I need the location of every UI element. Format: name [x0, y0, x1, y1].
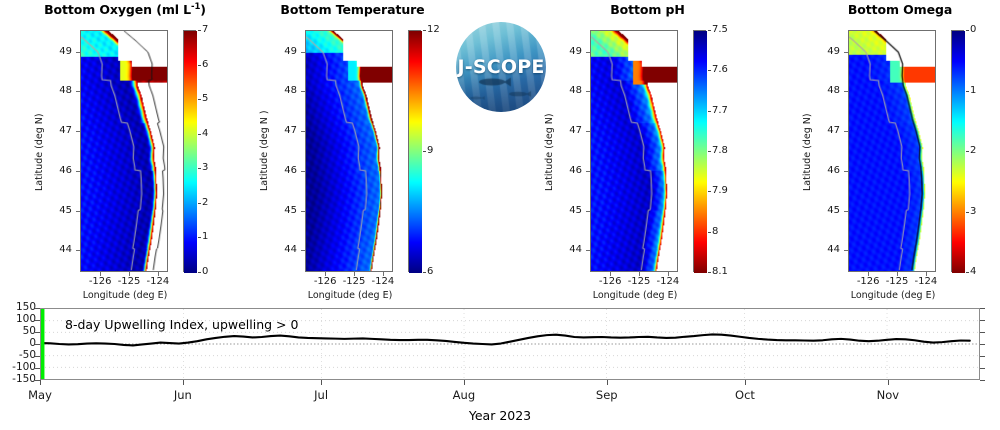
colorbar-tickmark-oxygen-4: [198, 168, 201, 169]
upwelling-xtick-4: Sep: [596, 388, 618, 402]
colorbar-tickmark-oxygen-1: [198, 65, 201, 66]
colorbar-tick-ph-0: 8.1: [712, 266, 728, 277]
map-ytick-ph-4: 45: [560, 205, 582, 216]
map-ytickmark-oxygen-4: [76, 211, 80, 212]
colorbar-tick-ph-2: 7.9: [712, 185, 728, 196]
map-image-temperature: [306, 31, 392, 271]
map-xtick-ph-2: -124: [650, 276, 686, 287]
map-xtickmark-omega-0: [868, 272, 869, 276]
colorbar-tickmark-oxygen-2: [198, 99, 201, 100]
colorbar-tickmark-omega-0: [966, 272, 969, 273]
map-xtickmark-temperature-1: [354, 272, 355, 276]
j-scope-logo-label: J-SCOPE: [456, 56, 546, 78]
colorbar-tickmark-temperature-0: [423, 30, 426, 31]
map-ytickmark-omega-1: [844, 91, 848, 92]
colorbar-tickmark-oxygen-5: [198, 203, 201, 204]
colorbar-tick-temperature-2: 6: [427, 266, 433, 277]
upwelling-xtickmark-4: [607, 380, 608, 385]
upwelling-ytickmark-5: [35, 368, 40, 369]
upwelling-ytickmark-right-3: [980, 344, 985, 345]
map-ytick-ph-2: 47: [560, 125, 582, 136]
map-ytickmark-oxygen-2: [76, 131, 80, 132]
map-xtickmark-ph-1: [639, 272, 640, 276]
colorbar-tickmark-temperature-1: [423, 151, 426, 152]
colorbar-tick-oxygen-1: 6: [202, 59, 208, 70]
map-xtick-omega-2: -124: [908, 276, 944, 287]
map-ytick-oxygen-5: 44: [50, 244, 72, 255]
map-ytickmark-ph-3: [586, 171, 590, 172]
colorbar-temperature: [408, 30, 421, 272]
colorbar-tick-temperature-1: 9: [427, 145, 433, 156]
colorbar-tick-oxygen-2: 5: [202, 93, 208, 104]
colorbar-tick-temperature-0: 12: [427, 24, 440, 35]
map-ytickmark-omega-3: [844, 171, 848, 172]
colorbar-tickmark-ph-0: [708, 272, 711, 273]
upwelling-ytick-6: -150: [12, 373, 36, 385]
colorbar-tickmark-omega-4: [966, 30, 969, 31]
map-ytick-temperature-0: 49: [275, 46, 297, 57]
map-ytickmark-ph-0: [586, 52, 590, 53]
upwelling-xtickmark-5: [745, 380, 746, 385]
colorbar-tick-oxygen-4: 3: [202, 162, 208, 173]
j-scope-logo: J-SCOPE: [456, 22, 546, 112]
panel-title-temperature: Bottom Temperature: [250, 2, 455, 17]
map-ytickmark-temperature-0: [301, 52, 305, 53]
upwelling-xlabel: Year 2023: [0, 408, 1000, 423]
map-image-ph: [591, 31, 677, 271]
jscope-forecast-figure: Bottom Oxygen (ml L-1) 76543210494847464…: [0, 0, 1000, 430]
colorbar-gradient-omega: [952, 31, 965, 273]
upwelling-ytickmark-right-4: [980, 356, 985, 357]
colorbar-ph: [693, 30, 706, 272]
map-ytickmark-omega-4: [844, 211, 848, 212]
map-ytickmark-temperature-5: [301, 250, 305, 251]
colorbar-tickmark-oxygen-0: [198, 30, 201, 31]
colorbar-tick-omega-3: 1: [970, 85, 976, 96]
map-ytick-oxygen-0: 49: [50, 46, 72, 57]
colorbar-tick-oxygen-0: 7: [202, 24, 208, 35]
upwelling-ytick-2: 50: [23, 325, 36, 337]
map-ytickmark-temperature-2: [301, 131, 305, 132]
upwelling-ytick-4: -50: [19, 349, 36, 361]
colorbar-tick-oxygen-6: 1: [202, 231, 208, 242]
map-ytick-ph-0: 49: [560, 46, 582, 57]
map-canvas-temperature: [305, 30, 393, 272]
map-ytick-ph-3: 46: [560, 165, 582, 176]
map-canvas-ph: [590, 30, 678, 272]
map-ytick-omega-4: 45: [818, 205, 840, 216]
map-ylabel-oxygen: Latitude (deg N): [34, 113, 45, 191]
colorbar-tickmark-temperature-2: [423, 272, 426, 273]
colorbar-oxygen: [183, 30, 196, 272]
map-ytick-oxygen-4: 45: [50, 205, 72, 216]
colorbar-tickmark-ph-6: [708, 30, 711, 31]
upwelling-index-chart: 150100500-50-100-150MayJunJulAugSepOctNo…: [0, 300, 1000, 430]
map-panel-temperature: Bottom Temperature 1296494847464544-126-…: [250, 0, 455, 300]
colorbar-tick-ph-4: 7.7: [712, 105, 728, 116]
colorbar-tickmark-ph-1: [708, 232, 711, 233]
colorbar-gradient-temperature: [409, 31, 422, 273]
upwelling-xtickmark-0: [40, 380, 41, 385]
colorbar-gradient-oxygen: [184, 31, 197, 273]
map-ytick-temperature-5: 44: [275, 244, 297, 255]
map-ytick-temperature-2: 47: [275, 125, 297, 136]
upwelling-ytick-3: 0: [29, 337, 36, 349]
upwelling-annotation: 8-day Upwelling Index, upwelling > 0: [65, 317, 298, 332]
upwelling-ytick-5: -100: [12, 361, 36, 373]
colorbar-tick-ph-1: 8: [712, 226, 718, 237]
upwelling-ytickmark-2: [35, 332, 40, 333]
colorbar-tick-omega-2: 2: [970, 145, 976, 156]
upwelling-ytick-0: 150: [16, 301, 36, 313]
upwelling-ytickmark-1: [35, 320, 40, 321]
map-ytickmark-oxygen-1: [76, 91, 80, 92]
colorbar-tick-oxygen-3: 4: [202, 128, 208, 139]
map-xtick-oxygen-2: -124: [140, 276, 176, 287]
panel-title-ph: Bottom pH: [545, 2, 750, 17]
colorbar-tickmark-oxygen-7: [198, 272, 201, 273]
colorbar-tick-oxygen-7: 0: [202, 266, 208, 277]
colorbar-tickmark-omega-2: [966, 151, 969, 152]
upwelling-ytickmark-right-2: [980, 332, 985, 333]
map-ytick-omega-5: 44: [818, 244, 840, 255]
upwelling-ytickmark-3: [35, 344, 40, 345]
map-ytick-omega-2: 47: [818, 125, 840, 136]
map-xtickmark-ph-0: [610, 272, 611, 276]
map-ytick-oxygen-2: 47: [50, 125, 72, 136]
upwelling-xtickmark-6: [888, 380, 889, 385]
map-ytick-temperature-1: 48: [275, 85, 297, 96]
map-ytick-omega-1: 48: [818, 85, 840, 96]
colorbar-omega: [951, 30, 964, 272]
map-ytickmark-temperature-4: [301, 211, 305, 212]
upwelling-ytickmark-right-1: [980, 320, 985, 321]
upwelling-xtick-6: Nov: [877, 388, 899, 402]
upwelling-xtickmark-3: [464, 380, 465, 385]
colorbar-gradient-ph: [694, 31, 707, 273]
colorbar-tickmark-oxygen-3: [198, 134, 201, 135]
map-ytickmark-omega-0: [844, 52, 848, 53]
panel-title-omega: Bottom Omega: [800, 2, 1000, 17]
map-xtickmark-temperature-2: [383, 272, 384, 276]
map-ytickmark-ph-5: [586, 250, 590, 251]
map-ytick-ph-1: 48: [560, 85, 582, 96]
map-panel-ph: Bottom pH 8.187.97.87.77.67.549484746454…: [545, 0, 750, 300]
upwelling-xtick-3: Aug: [453, 388, 475, 402]
map-ytick-oxygen-3: 46: [50, 165, 72, 176]
map-image-oxygen: [81, 31, 167, 271]
colorbar-tick-oxygen-5: 2: [202, 197, 208, 208]
map-canvas-omega: [848, 30, 936, 272]
map-ytick-ph-5: 44: [560, 244, 582, 255]
upwelling-ytickmark-4: [35, 356, 40, 357]
map-ytickmark-temperature-1: [301, 91, 305, 92]
map-ylabel-ph: Latitude (deg N): [544, 113, 555, 191]
map-ytickmark-ph-1: [586, 91, 590, 92]
map-panel-omega: Bottom Omega 43210494847464544-126-125-1…: [800, 0, 1000, 300]
colorbar-tickmark-ph-2: [708, 191, 711, 192]
map-xtickmark-oxygen-1: [129, 272, 130, 276]
colorbar-tick-omega-1: 3: [970, 206, 976, 217]
map-panel-oxygen: Bottom Oxygen (ml L-1) 76543210494847464…: [0, 0, 250, 300]
colorbar-tick-ph-5: 7.6: [712, 64, 728, 75]
colorbar-tickmark-ph-5: [708, 70, 711, 71]
colorbar-tickmark-oxygen-6: [198, 237, 201, 238]
map-ytick-oxygen-1: 48: [50, 85, 72, 96]
upwelling-line: [41, 334, 970, 345]
map-xtickmark-oxygen-0: [100, 272, 101, 276]
map-xtickmark-oxygen-2: [158, 272, 159, 276]
colorbar-tickmark-omega-1: [966, 212, 969, 213]
map-ytickmark-ph-2: [586, 131, 590, 132]
map-ytickmark-omega-5: [844, 250, 848, 251]
map-ytickmark-ph-4: [586, 211, 590, 212]
upwelling-xtick-2: Jul: [314, 388, 328, 402]
upwelling-xtickmark-1: [183, 380, 184, 385]
map-ytickmark-oxygen-0: [76, 52, 80, 53]
map-image-omega: [849, 31, 935, 271]
upwelling-ytickmark-0: [35, 308, 40, 309]
map-canvas-oxygen: [80, 30, 168, 272]
colorbar-tick-omega-4: 0: [970, 24, 976, 35]
upwelling-ytickmark-right-5: [980, 368, 985, 369]
colorbar-tickmark-ph-4: [708, 111, 711, 112]
upwelling-xtick-1: Jun: [174, 388, 192, 402]
map-ytick-omega-3: 46: [818, 165, 840, 176]
colorbar-tick-omega-0: 4: [970, 266, 976, 277]
map-xtickmark-omega-1: [897, 272, 898, 276]
upwelling-ytickmark-right-6: [980, 380, 985, 381]
map-xtickmark-temperature-0: [325, 272, 326, 276]
map-xtickmark-omega-2: [926, 272, 927, 276]
map-ytickmark-omega-2: [844, 131, 848, 132]
map-ytick-temperature-4: 45: [275, 205, 297, 216]
upwelling-ytick-1: 100: [16, 313, 36, 325]
colorbar-tick-ph-6: 7.5: [712, 24, 728, 35]
panel-title-oxygen: Bottom Oxygen (ml L-1): [0, 2, 250, 17]
upwelling-xtick-0: May: [28, 388, 52, 402]
colorbar-tickmark-ph-3: [708, 151, 711, 152]
map-ytickmark-temperature-3: [301, 171, 305, 172]
upwelling-xtickmark-2: [321, 380, 322, 385]
colorbar-tickmark-omega-3: [966, 91, 969, 92]
map-xtick-temperature-2: -124: [365, 276, 401, 287]
map-ylabel-temperature: Latitude (deg N ): [259, 110, 270, 191]
map-ytick-temperature-3: 46: [275, 165, 297, 176]
map-ytick-omega-0: 49: [818, 46, 840, 57]
map-ytickmark-oxygen-3: [76, 171, 80, 172]
upwelling-xtick-5: Oct: [735, 388, 755, 402]
map-ylabel-omega: Latitude (deg N): [802, 113, 813, 191]
map-ytickmark-oxygen-5: [76, 250, 80, 251]
map-xtickmark-ph-2: [668, 272, 669, 276]
upwelling-ytickmark-right-0: [980, 308, 985, 309]
colorbar-tick-ph-3: 7.8: [712, 145, 728, 156]
